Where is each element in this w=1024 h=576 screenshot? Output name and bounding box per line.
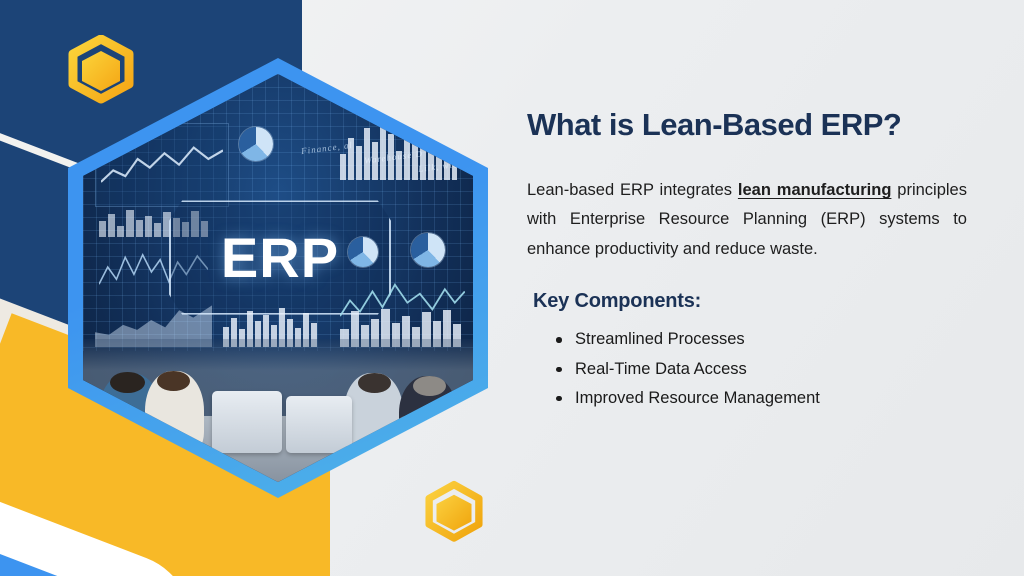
list-item: Streamlined Processes [573, 325, 967, 354]
chart-panel-line-topleft [95, 123, 230, 207]
hexagon-image-frame: Finance, al Warehouse D Lilk, wton a D [68, 58, 488, 498]
pie-chart-right-2 [411, 233, 445, 267]
page-title: What is Lean-Based ERP? [527, 108, 967, 142]
erp-label-text: ERP [221, 230, 339, 286]
list-item: Improved Resource Management [573, 384, 967, 413]
monitor-right [286, 396, 352, 453]
list-item: Real-Time Data Access [573, 355, 967, 384]
pie-chart-top [239, 127, 273, 161]
paragraph-text-before: Lean-based ERP integrates [527, 181, 738, 199]
person-4-head [413, 376, 446, 396]
paragraph-emphasis-link[interactable]: lean manufacturing [738, 181, 892, 199]
content-column: What is Lean-Based ERP? Lean-based ERP i… [527, 108, 967, 413]
monitor-left [212, 391, 282, 454]
key-components-heading: Key Components: [533, 290, 967, 313]
slide-canvas: Finance, al Warehouse D Lilk, wton a D [0, 0, 1024, 576]
person-2-head [157, 371, 190, 391]
intro-paragraph: Lean-based ERP integrates lean manufactu… [527, 176, 967, 264]
key-components-list: Streamlined Processes Real-Time Data Acc… [527, 325, 967, 413]
